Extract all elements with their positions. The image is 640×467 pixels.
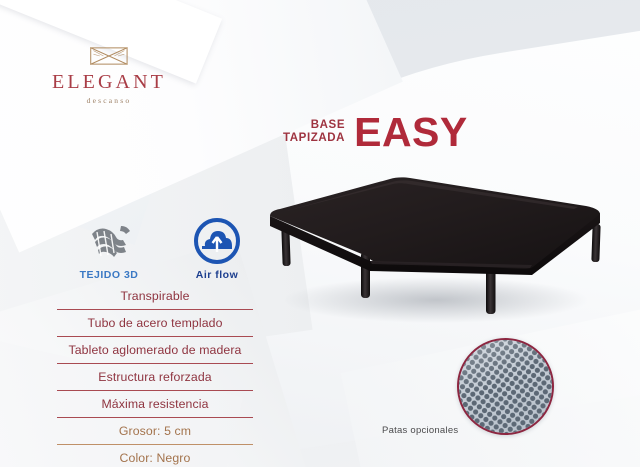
brand-logo: ELEGANT descanso — [44, 46, 174, 105]
feature-item: Transpirable — [57, 283, 253, 310]
badge-label-tejido-3d: TEJIDO 3D — [66, 269, 152, 281]
feature-item: Tableto aglomerado de madera — [57, 337, 253, 364]
feature-item: Estructura reforzada — [57, 364, 253, 391]
feature-list: Transpirable Tubo de acero templado Tabl… — [57, 283, 253, 467]
feature-label: Transpirable — [120, 289, 189, 303]
feature-item: Color: Negro — [57, 445, 253, 467]
tejido-3d-fabric-icon — [66, 218, 152, 264]
page-title: BASE TAPIZADA EASY — [283, 112, 468, 153]
bowtie-monogram-icon — [88, 46, 130, 66]
brand-name: ELEGANT — [44, 71, 174, 94]
upholstered-bed-base-icon — [256, 168, 616, 328]
badge-label-air-flow: Air flow — [174, 269, 260, 281]
mesh-fabric-detail-icon — [457, 338, 554, 435]
feature-label: Tubo de acero templado — [87, 316, 222, 330]
mesh-sheen — [459, 340, 552, 433]
badge-tejido-3d: TEJIDO 3D — [66, 218, 152, 281]
legs-caption: Patas opcionales — [382, 425, 458, 436]
feature-label: Estructura reforzada — [98, 370, 211, 384]
headline-line-1: BASE — [283, 119, 345, 132]
feature-badges: TEJIDO 3D Air flow — [66, 218, 260, 281]
feature-item: Grosor: 5 cm — [57, 418, 253, 445]
product-poster: ELEGANT descanso BASE TAPIZADA EASY — [0, 0, 640, 467]
badge-air-flow: Air flow — [174, 218, 260, 281]
air-flow-cloud-arrow-icon — [174, 218, 260, 264]
feature-label: Máxima resistencia — [101, 397, 208, 411]
feature-label: Grosor: 5 cm — [119, 424, 191, 438]
headline-line-2: TAPIZADA — [283, 132, 345, 145]
headline-product-name: EASY — [354, 112, 468, 153]
brand-tagline: descanso — [44, 96, 174, 105]
feature-label: Color: Negro — [120, 451, 191, 465]
feature-item: Máxima resistencia — [57, 391, 253, 418]
headline-subtitle: BASE TAPIZADA — [283, 119, 345, 147]
feature-item: Tubo de acero templado — [57, 310, 253, 337]
background-top-left-shape-b — [0, 0, 209, 245]
feature-label: Tableto aglomerado de madera — [68, 343, 241, 357]
